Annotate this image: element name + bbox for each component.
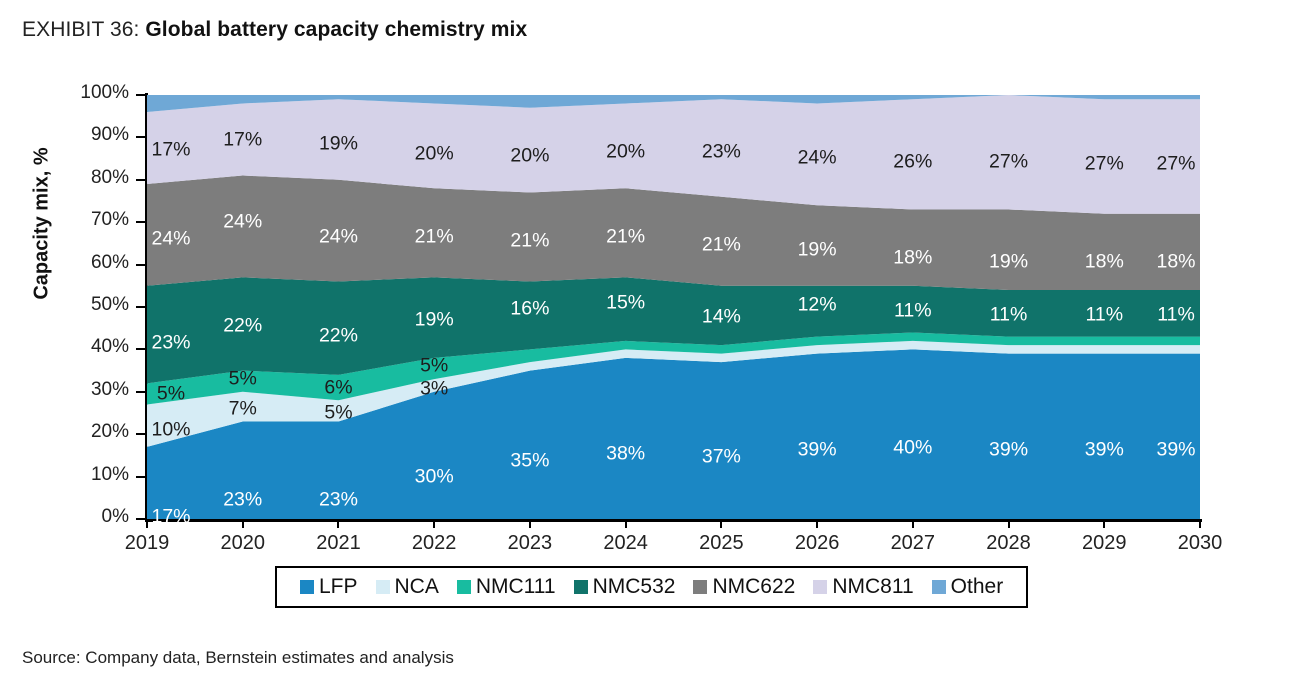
x-tick-label: 2020 xyxy=(198,532,288,555)
x-tick-label: 2019 xyxy=(102,532,192,555)
exhibit-heading: Global battery capacity chemistry mix xyxy=(145,18,527,41)
plot-region xyxy=(147,95,1200,519)
legend-swatch-icon xyxy=(574,580,588,594)
x-tick-label: 2030 xyxy=(1155,532,1245,555)
y-tick-mark xyxy=(136,348,146,350)
y-tick-mark xyxy=(136,476,146,478)
y-tick-label: 40% xyxy=(49,336,129,358)
x-tick-label: 2027 xyxy=(868,532,958,555)
legend-item-lfp[interactable]: LFP xyxy=(300,575,358,599)
y-tick-label: 80% xyxy=(49,167,129,189)
x-tick-label: 2023 xyxy=(485,532,575,555)
x-tick-mark xyxy=(242,519,244,528)
legend-swatch-icon xyxy=(376,580,390,594)
x-axis-line xyxy=(145,519,1202,522)
legend-swatch-icon xyxy=(813,580,827,594)
area-series-svg xyxy=(147,95,1200,519)
legend-label: NMC532 xyxy=(593,575,676,599)
legend-label: NMC111 xyxy=(476,575,556,599)
legend-swatch-icon xyxy=(932,580,946,594)
legend-item-nmc532[interactable]: NMC532 xyxy=(574,575,676,599)
x-tick-label: 2028 xyxy=(964,532,1054,555)
legend-swatch-icon xyxy=(300,580,314,594)
x-tick-mark xyxy=(1103,519,1105,528)
x-tick-mark xyxy=(625,519,627,528)
y-tick-label: 90% xyxy=(49,124,129,146)
y-tick-mark xyxy=(136,391,146,393)
x-tick-mark xyxy=(1199,519,1201,528)
y-tick-label: 100% xyxy=(49,82,129,104)
y-tick-mark xyxy=(136,179,146,181)
y-tick-label: 60% xyxy=(49,252,129,274)
legend-item-nmc811[interactable]: NMC811 xyxy=(813,575,913,599)
x-tick-mark xyxy=(816,519,818,528)
x-tick-label: 2029 xyxy=(1059,532,1149,555)
legend-swatch-icon xyxy=(693,580,707,594)
exhibit-number: EXHIBIT 36: xyxy=(22,18,139,41)
y-tick-label: 10% xyxy=(49,464,129,486)
legend-swatch-icon xyxy=(457,580,471,594)
x-tick-label: 2025 xyxy=(676,532,766,555)
source-note: Source: Company data, Bernstein estimate… xyxy=(22,648,454,668)
y-tick-label: 20% xyxy=(49,421,129,443)
chart-legend: LFPNCANMC111NMC532NMC622NMC811Other xyxy=(275,566,1028,608)
x-tick-mark xyxy=(529,519,531,528)
y-tick-label: 70% xyxy=(49,209,129,231)
legend-item-nmc622[interactable]: NMC622 xyxy=(693,575,795,599)
y-tick-mark xyxy=(136,306,146,308)
x-tick-mark xyxy=(912,519,914,528)
x-tick-mark xyxy=(720,519,722,528)
legend-label: NMC811 xyxy=(832,575,913,599)
page-title: EXHIBIT 36: Global battery capacity chem… xyxy=(22,18,527,42)
legend-item-nmc111[interactable]: NMC111 xyxy=(457,575,556,599)
y-tick-mark xyxy=(136,518,146,520)
x-tick-mark xyxy=(433,519,435,528)
y-tick-mark xyxy=(136,264,146,266)
y-tick-mark xyxy=(136,433,146,435)
legend-label: NMC622 xyxy=(712,575,795,599)
stacked-area-chart: Capacity mix, % 0%10%20%30%40%50%60%70%8… xyxy=(0,62,1297,552)
y-tick-mark xyxy=(136,94,146,96)
legend-item-nca[interactable]: NCA xyxy=(376,575,439,599)
y-tick-mark xyxy=(136,221,146,223)
x-tick-mark xyxy=(146,519,148,528)
y-tick-label: 30% xyxy=(49,379,129,401)
legend-label: NCA xyxy=(395,575,439,599)
legend-label: Other xyxy=(951,575,1004,599)
legend-item-other[interactable]: Other xyxy=(932,575,1004,599)
y-tick-mark xyxy=(136,136,146,138)
legend-label: LFP xyxy=(319,575,358,599)
x-tick-label: 2024 xyxy=(581,532,671,555)
x-tick-mark xyxy=(337,519,339,528)
x-tick-mark xyxy=(1008,519,1010,528)
y-tick-label: 50% xyxy=(49,294,129,316)
x-tick-label: 2021 xyxy=(293,532,383,555)
x-tick-label: 2022 xyxy=(389,532,479,555)
x-tick-label: 2026 xyxy=(772,532,862,555)
y-tick-label: 0% xyxy=(49,506,129,528)
